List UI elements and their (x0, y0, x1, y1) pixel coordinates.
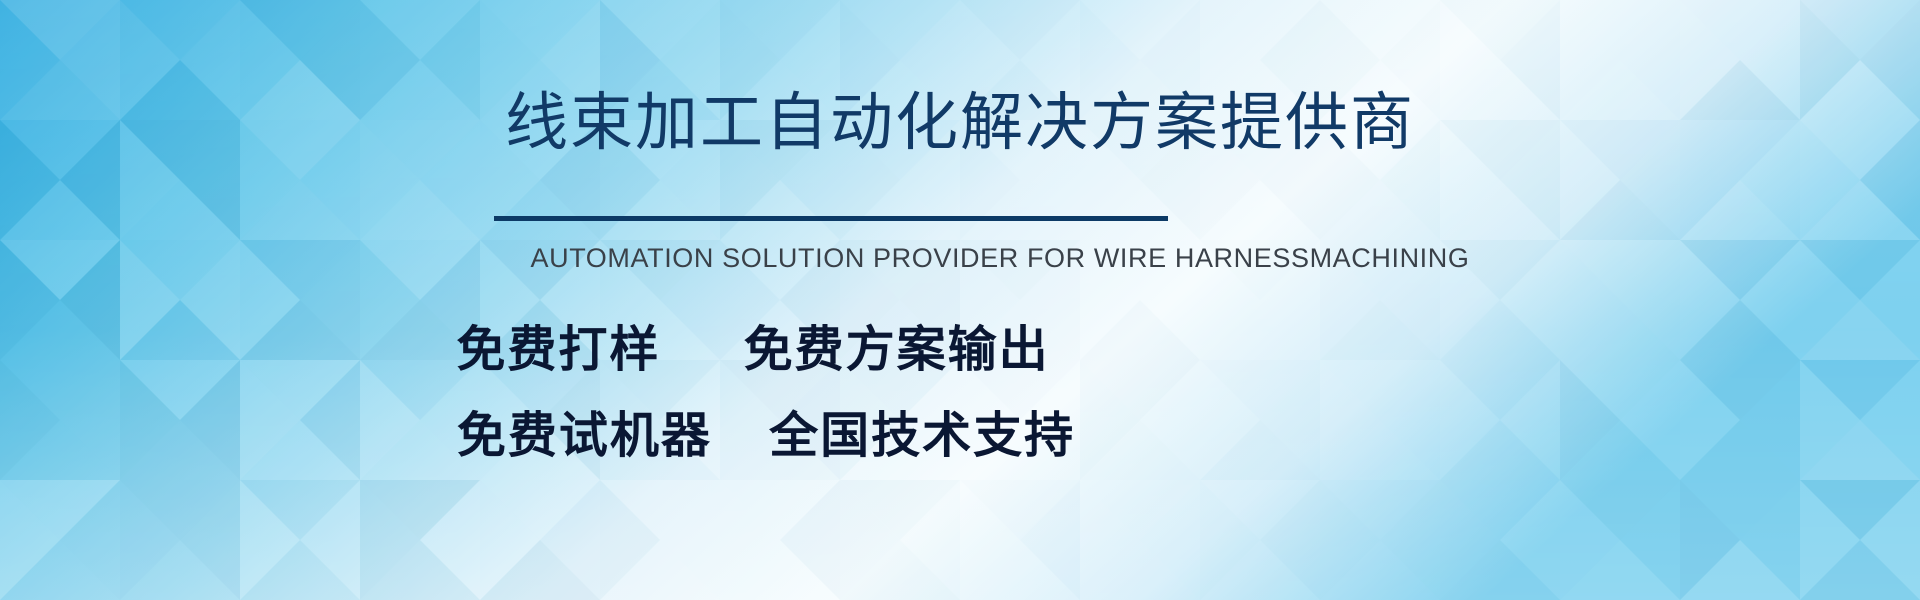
hero-banner: 线束加工自动化解决方案提供商 AUTOMATION SOLUTION PROVI… (0, 0, 1920, 600)
low-poly-background (0, 0, 1920, 600)
